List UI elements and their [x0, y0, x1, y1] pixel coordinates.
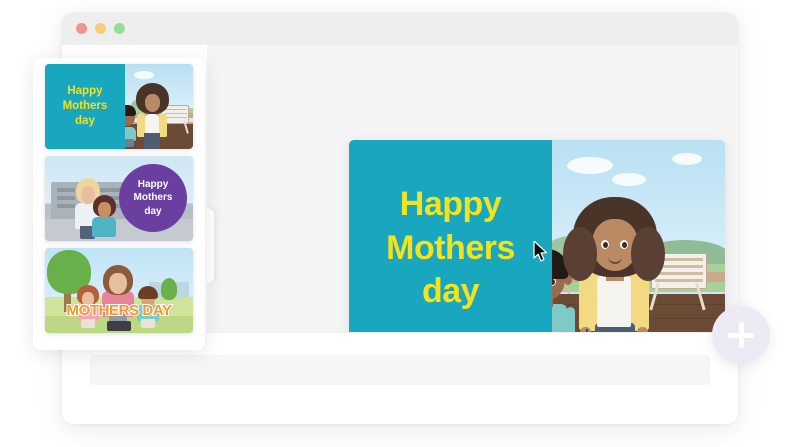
window-titlebar [62, 12, 738, 45]
timeline-track[interactable] [90, 355, 710, 385]
window-controls [76, 23, 125, 34]
slide-canvas[interactable]: Happy Mothers day [349, 140, 725, 357]
thumb3-small-tree [161, 278, 177, 300]
thumb1-character-mother [133, 83, 171, 147]
slide-thumbnail-list: Happy Mothers day [37, 64, 201, 333]
cloud-icon [612, 173, 646, 186]
add-button[interactable] [712, 306, 770, 364]
thumb1-title-text: Happy Mothers day [63, 84, 108, 129]
thumb3-title-text: MOTHERS DAY [45, 302, 193, 319]
slide-thumbnail-1[interactable]: Happy Mothers day [45, 64, 193, 149]
close-dot[interactable] [76, 23, 87, 34]
thumb3-bench [107, 321, 131, 331]
maximize-dot[interactable] [114, 23, 125, 34]
thumb1-text-panel: Happy Mothers day [45, 64, 125, 149]
canvas-title-text: Happy Mothers day [376, 183, 525, 314]
slides-sidebar: Happy Mothers day [33, 58, 205, 350]
plus-icon [739, 322, 744, 348]
slide-thumbnail-3[interactable]: MOTHERS DAY [45, 248, 193, 333]
thumb2-title-text: Happy Mothers day [134, 178, 173, 218]
thumb2-title-badge: Happy Mothers day [119, 164, 187, 232]
thumb2-character-girl [89, 195, 121, 239]
minimize-dot[interactable] [95, 23, 106, 34]
slide-thumbnail-2[interactable]: Happy Mothers day [45, 156, 193, 241]
canvas-text-panel[interactable]: Happy Mothers day [349, 140, 552, 357]
sidebar-collapse-handle[interactable] [204, 208, 214, 283]
